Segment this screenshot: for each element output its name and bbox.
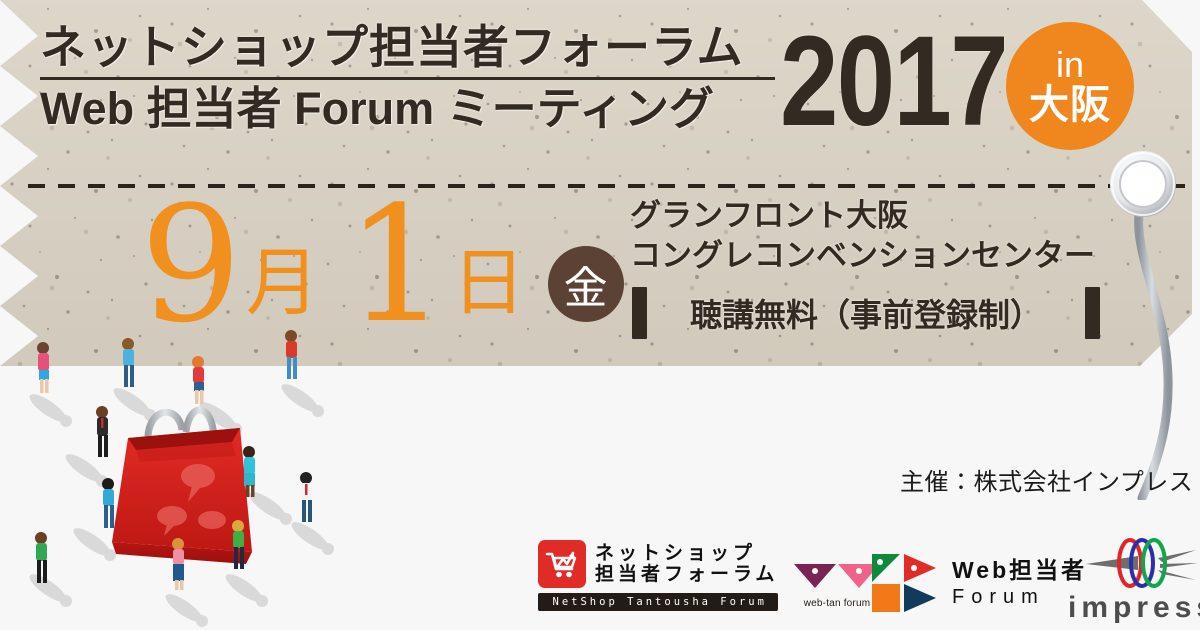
impress-rings-icon (1084, 536, 1200, 590)
netshop-logo-romaji: NetShop Tantousha Forum (538, 593, 778, 611)
event-year: 2017 (780, 18, 1007, 146)
date-day-unit: 日 (452, 246, 526, 320)
tick-mark-left-icon (632, 287, 647, 339)
web-forum-line-1: Web担当者 (952, 557, 1087, 585)
date-month-number: 9 (140, 196, 242, 334)
title-line-2: Web 担当者 Forum ミーティング (40, 84, 780, 134)
shopping-cart-icon (538, 540, 586, 588)
grommet-hole-icon (1120, 161, 1166, 207)
netshop-logo-line-1: ネットショップ (595, 543, 778, 564)
event-date: 9 月 1 日 金 (140, 196, 624, 334)
venue-line-1: グランフロント大阪 (630, 196, 1100, 236)
organizer-label: 主催：株式会社インプレス (900, 462, 1168, 497)
location-badge: in 大阪 (1006, 22, 1134, 150)
title-divider (40, 77, 775, 80)
date-weekday-badge: 金 (548, 246, 624, 322)
shopping-bag-illustration (0, 320, 360, 630)
admission-label: 聴講無料（事前登録制） (647, 290, 1085, 336)
web-forum-triangles-icon (870, 552, 940, 614)
string-cord (1139, 196, 1169, 498)
admission-row: 聴講無料（事前登録制） (630, 285, 1100, 341)
logo-impress[interactable]: impress (1068, 536, 1200, 625)
badge-city-label: 大阪 (1029, 85, 1111, 125)
tick-mark-right-icon (1085, 287, 1100, 339)
date-month-unit: 月 (246, 246, 320, 320)
banner-stage: ネットショップ担当者フォーラム Web 担当者 Forum ミーティング 201… (0, 0, 1200, 630)
date-day-number: 1 (346, 196, 448, 334)
web-forum-line-2: Forum (952, 585, 1087, 609)
badge-in-label: in (1056, 47, 1084, 83)
title-line-1: ネットショップ担当者フォーラム (40, 22, 780, 74)
logo-netshop-forum[interactable]: ネットショップ 担当者フォーラム NetShop Tantousha Forum (538, 540, 778, 611)
logo-row: ネットショップ 担当者フォーラム NetShop Tantousha Forum… (520, 534, 1190, 622)
venue-block: グランフロント大阪 コングレコンベンションセンター 聴講無料（事前登録制） (630, 196, 1100, 341)
logo-web-tantousha-forum[interactable]: Web担当者 Forum (870, 552, 1087, 614)
venue-line-2: コングレコンベンションセンター (630, 236, 1100, 276)
tag-string (1100, 140, 1200, 500)
event-title-block: ネットショップ担当者フォーラム Web 担当者 Forum ミーティング (40, 22, 780, 134)
netshop-logo-line-2: 担当者フォーラム (595, 564, 778, 585)
impress-wordmark: impress (1068, 591, 1200, 625)
